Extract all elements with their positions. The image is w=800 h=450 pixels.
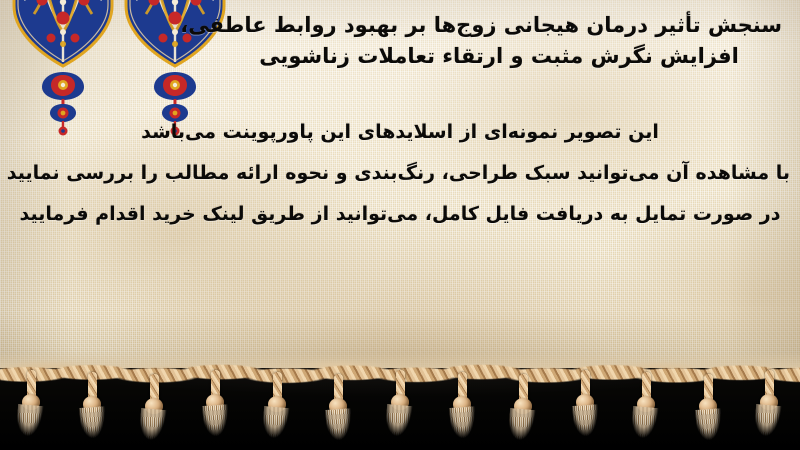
tassel: [572, 370, 598, 442]
tassel: [141, 374, 167, 446]
tassel: [325, 374, 351, 446]
tassel: [695, 374, 721, 446]
tassel-skirt: [261, 406, 290, 446]
tassel-skirt: [630, 406, 659, 446]
tassel-skirt: [507, 408, 536, 448]
tassel: [510, 374, 536, 446]
tassel-skirt: [79, 406, 108, 446]
slide-title: سنجش تأثیر درمان هیجانی زوج‌ها بر بهبود …: [216, 10, 782, 72]
slide-title-line-1: سنجش تأثیر درمان هیجانی زوج‌ها بر بهبود …: [216, 10, 782, 41]
tassel: [18, 370, 44, 442]
slide-body-line-3: در صورت تمایل به دریافت فایل کامل، می‌تو…: [10, 194, 790, 235]
tassel: [264, 372, 290, 444]
slide-body: این تصویر نمونه‌ای از اسلایدهای این پاور…: [10, 112, 790, 235]
presentation-slide: سنجش تأثیر درمان هیجانی زوج‌ها بر بهبود …: [0, 0, 800, 450]
tassel: [449, 372, 475, 444]
slide-body-line-2: با مشاهده آن می‌توانید سبک طراحی، رنگ‌بن…: [10, 153, 790, 194]
tassel-skirt: [753, 404, 782, 444]
tassel: [387, 370, 413, 442]
tassel-skirt: [695, 408, 724, 448]
slide-text-layer: سنجش تأثیر درمان هیجانی زوج‌ها بر بهبود …: [0, 0, 800, 380]
tassel-skirt: [572, 404, 601, 444]
tassel-skirt: [449, 406, 478, 446]
tassel-skirt: [384, 404, 413, 444]
tassel: [79, 372, 105, 444]
tassel-skirt: [138, 408, 167, 448]
tassel-skirt: [15, 404, 44, 444]
tassel: [756, 370, 782, 442]
tassel-skirt: [325, 408, 354, 448]
tassel-skirt: [202, 404, 231, 444]
tassel: [633, 372, 659, 444]
slide-title-line-2: افزایش نگرش مثبت و ارتقاء تعاملات زناشوی…: [216, 41, 782, 72]
tassel: [202, 370, 228, 442]
slide-body-line-1: این تصویر نمونه‌ای از اسلایدهای این پاور…: [10, 112, 790, 153]
